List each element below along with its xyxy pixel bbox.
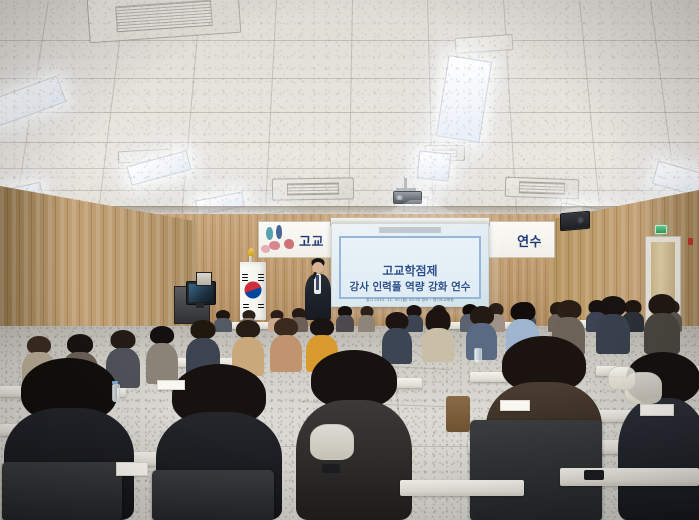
attendee — [336, 306, 354, 332]
ac-vent — [87, 0, 242, 43]
ac-vent — [272, 177, 354, 200]
handout-paper — [500, 400, 530, 411]
water-bottle — [112, 384, 120, 402]
slide-meta: 일시 2025. 12. 00.(월) 00:00 장소 : 경기도교육청 — [341, 298, 479, 303]
ac-vent — [425, 145, 465, 161]
banner-text-right: 연수 — [517, 231, 542, 250]
ceiling-light — [436, 55, 492, 143]
fire-alarm-icon — [688, 238, 693, 245]
banner-decor-shape — [269, 241, 280, 250]
presenter-tie — [316, 275, 319, 290]
ceiling-diffuser — [455, 34, 514, 54]
attendee — [422, 308, 454, 362]
handout-paper — [157, 380, 185, 390]
seminar-room-photo: 고교 연수 고교학점제 강사 인력풀 역량 강화 연수 일시 2025. 12.… — [0, 0, 699, 520]
plastic-bag — [310, 424, 354, 460]
ceiling-light — [0, 76, 66, 129]
projector-mount — [396, 188, 416, 191]
handout-paper — [640, 404, 674, 416]
ceiling-light — [126, 150, 191, 185]
desk — [400, 480, 524, 496]
ceiling — [0, 0, 699, 228]
av-equipment-rack — [196, 272, 212, 286]
banner-text-left: 고교 — [299, 231, 324, 250]
ceiling-diffuser — [118, 149, 173, 164]
handbag — [446, 396, 470, 432]
chair — [152, 470, 274, 520]
banner-decor-shape — [276, 225, 282, 239]
wall-speaker — [560, 211, 590, 232]
taeguk-symbol — [245, 281, 262, 298]
desk — [560, 468, 699, 486]
attendee — [644, 294, 680, 354]
slide-header-bar — [379, 227, 441, 233]
banner-decor-shape — [261, 245, 270, 253]
exit-sign-icon — [655, 225, 667, 234]
banner-decor-shape — [284, 239, 294, 249]
ceiling-light — [417, 150, 452, 181]
projector-mount — [404, 178, 407, 190]
attendee — [358, 306, 375, 332]
slide-subtitle: 강사 인력풀 역량 강화 연수 — [341, 279, 479, 294]
handout-paper — [116, 462, 148, 476]
projector — [393, 191, 422, 204]
plastic-bag — [608, 366, 636, 390]
projection-screen: 고교학점제 강사 인력풀 역량 강화 연수 일시 2025. 12. 00.(월… — [331, 223, 489, 307]
slide-frame: 고교학점제 강사 인력풀 역량 강화 연수 일시 2025. 12. 00.(월… — [339, 236, 481, 299]
smartphone[interactable] — [322, 464, 340, 473]
chair — [2, 462, 122, 520]
monitor-stand — [196, 303, 204, 308]
bottle-cap — [112, 381, 118, 384]
slide-title: 고교학점제 — [341, 262, 479, 279]
water-bottle — [474, 348, 482, 363]
smartphone[interactable] — [584, 470, 604, 480]
banner-decor-shape — [266, 227, 273, 240]
ac-vent — [505, 177, 580, 200]
